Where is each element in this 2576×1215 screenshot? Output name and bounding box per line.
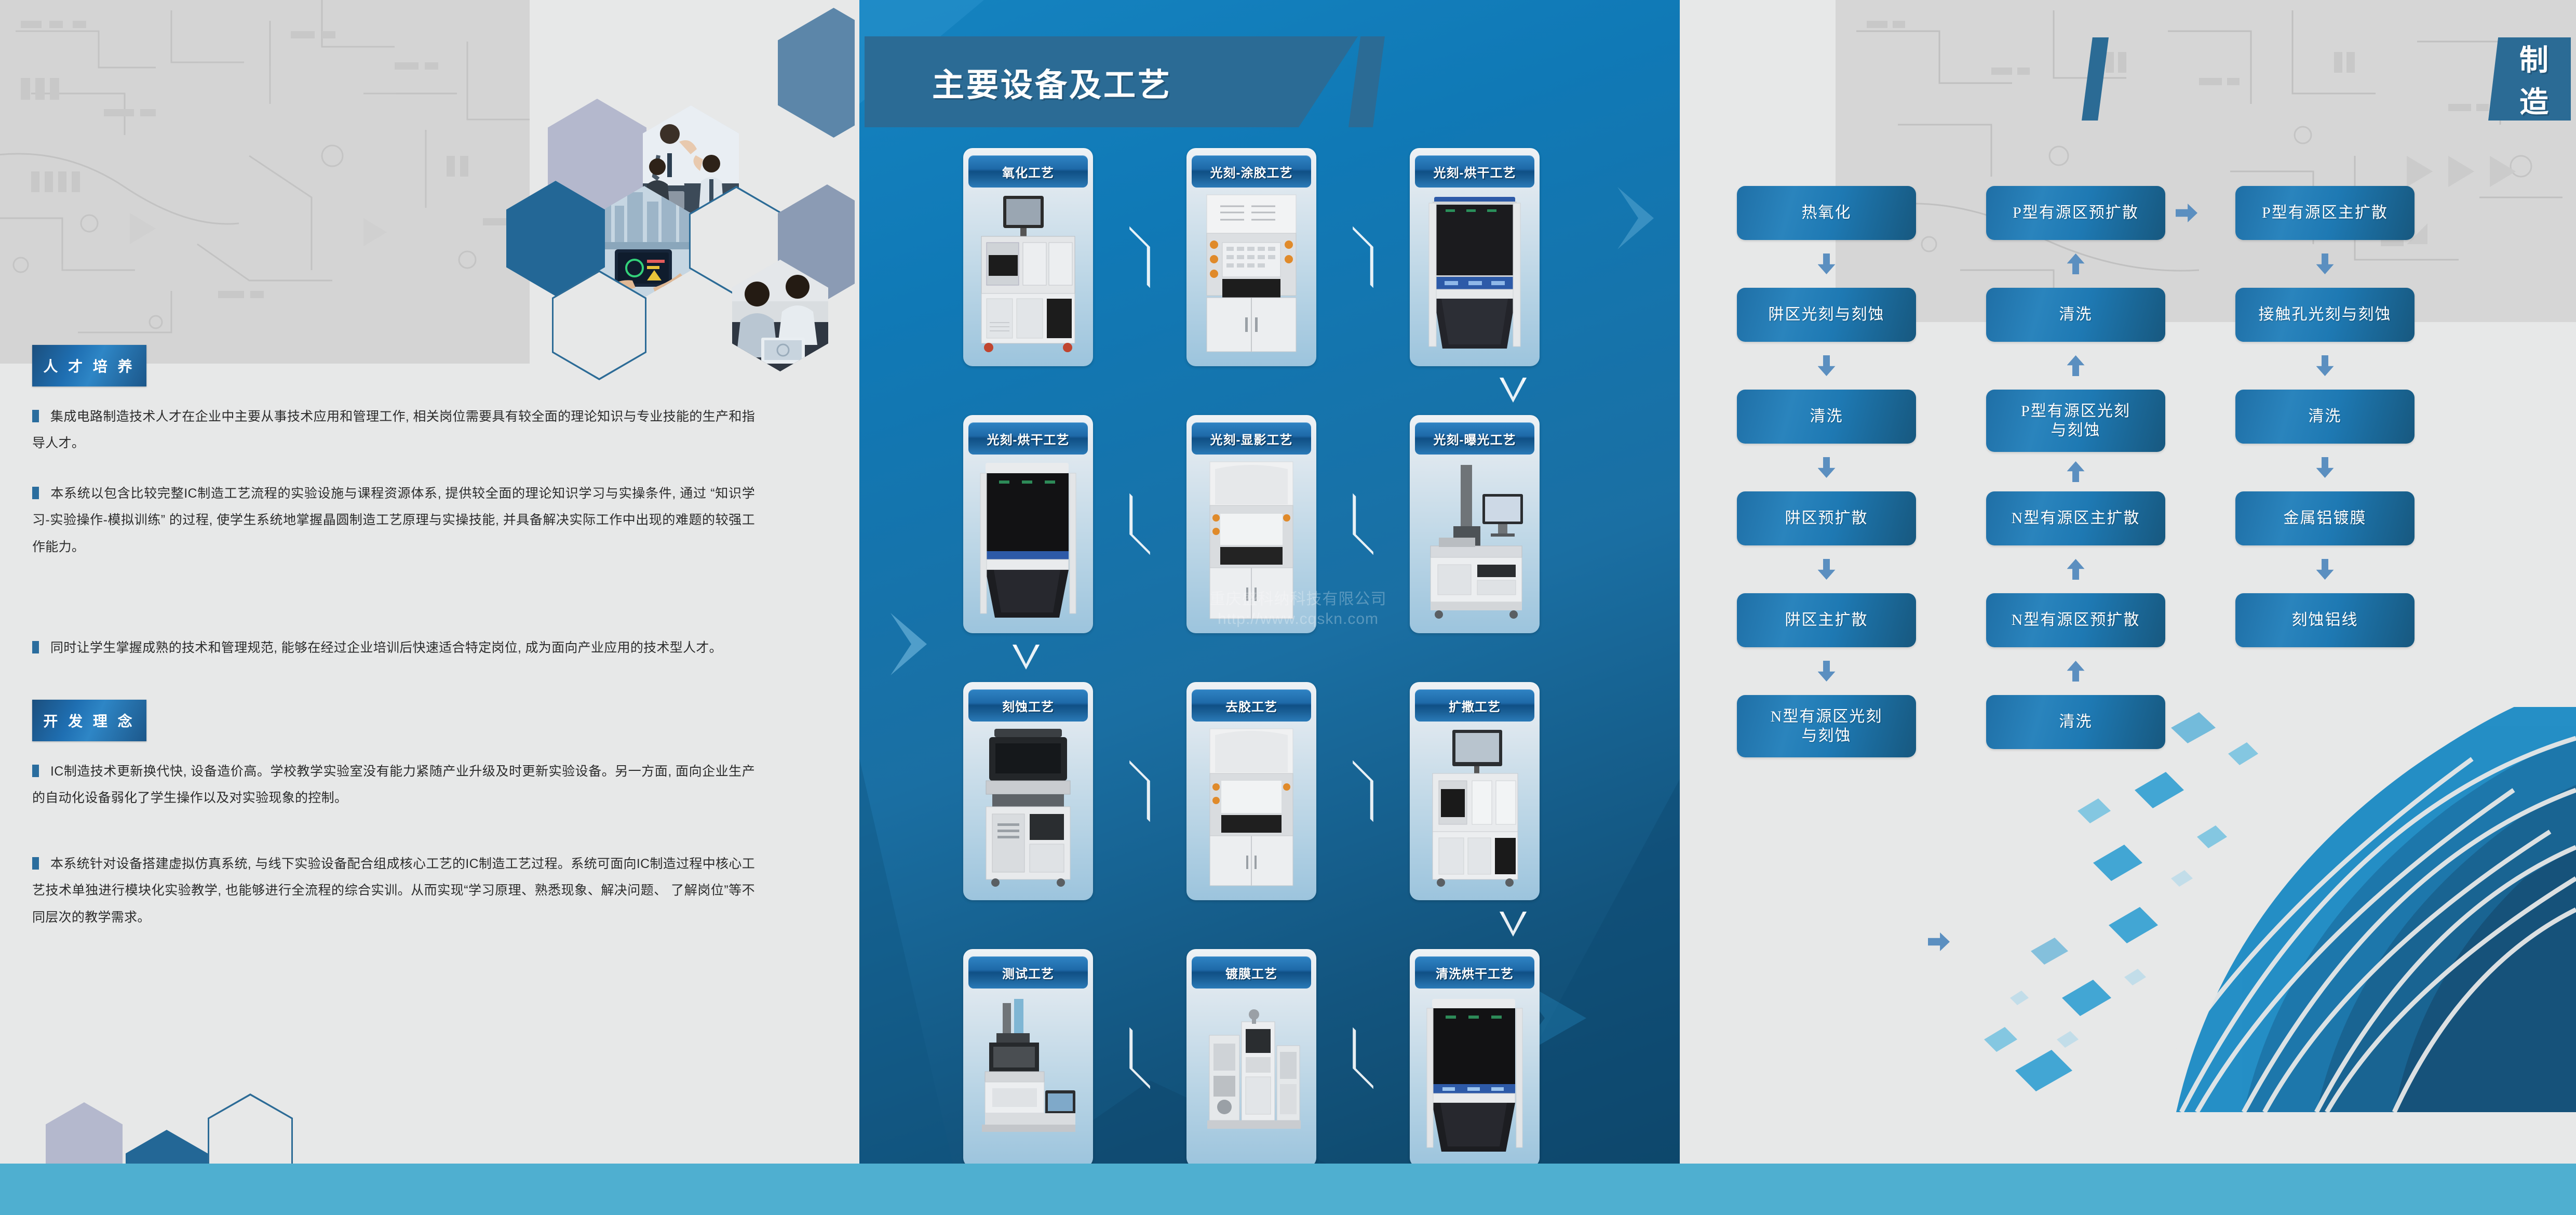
diffusion-furnace-icon bbox=[1410, 727, 1540, 900]
equipment-row-1: 氧化工艺 bbox=[963, 148, 1576, 366]
paragraph-talent-1: 集成电路制造技术人才在企业中主要从事技术应用和管理工作, 相关岗位需要具有较全面… bbox=[32, 404, 755, 457]
etcher-icon bbox=[963, 727, 1093, 900]
equipment-row-2: 光刻-烘干工艺 bbox=[963, 415, 1576, 633]
right-panel: 集成电路制造工艺流程 热氧化 阱区光刻与刻蚀 清洗 阱区预扩散 阱区主扩散 N型… bbox=[1680, 0, 2576, 1164]
sputter-coater-icon bbox=[1186, 994, 1316, 1164]
flow-box-3-3[interactable]: 清洗 bbox=[2235, 390, 2415, 444]
flow-arrow-down-2-row bbox=[963, 645, 1576, 673]
flow-arrow-left-4 bbox=[1347, 949, 1379, 1164]
flow-box-2-1[interactable]: P型有源区预扩散 bbox=[1986, 186, 2165, 240]
stripper-hood-icon bbox=[1186, 727, 1316, 900]
flow-box-1-3[interactable]: 清洗 bbox=[1737, 390, 1916, 444]
equipment-label: 刻蚀工艺 bbox=[968, 689, 1088, 722]
paragraph-text: 集成电路制造技术人才在企业中主要从事技术应用和管理工作, 相关岗位需要具有较全面… bbox=[32, 409, 755, 450]
equipment-card-diffusion[interactable]: 扩撒工艺 bbox=[1410, 682, 1540, 900]
equipment-label: 光刻-曝光工艺 bbox=[1415, 422, 1534, 455]
equipment-row-3: 刻蚀工艺 bbox=[963, 682, 1576, 900]
equipment-card-clean-dry[interactable]: 清洗烘干工艺 bbox=[1410, 949, 1540, 1164]
equipment-card-strip[interactable]: 去胶工艺 bbox=[1186, 682, 1316, 900]
hex-photo-students-laptop bbox=[732, 260, 828, 371]
equipment-label: 光刻-烘干工艺 bbox=[1415, 155, 1534, 188]
flow-arrow-down-icon bbox=[2316, 559, 2334, 580]
bullet-square-icon bbox=[32, 857, 39, 870]
flow-arrow-left-2 bbox=[1347, 415, 1379, 633]
equipment-card-etching[interactable]: 刻蚀工艺 bbox=[963, 682, 1093, 900]
flow-arrow-up-icon bbox=[2067, 559, 2085, 580]
center-panel-title: 主要设备及工艺 bbox=[865, 36, 1358, 127]
flow-box-3-5[interactable]: 刻蚀铝线 bbox=[2235, 593, 2415, 647]
flow-arrow-up-icon bbox=[2067, 461, 2085, 482]
flow-arrow-down-3 bbox=[1500, 912, 1527, 937]
flow-box-3-1[interactable]: P型有源区主扩散 bbox=[2235, 186, 2415, 240]
equipment-label: 扩撒工艺 bbox=[1415, 689, 1534, 722]
equipment-label: 镀膜工艺 bbox=[1192, 956, 1311, 989]
flow-column-3: P型有源区主扩散 接触孔光刻与刻蚀 清洗 金属铝镀膜 刻蚀铝线 bbox=[2235, 186, 2415, 647]
coater-hood-icon bbox=[1186, 193, 1316, 366]
left-panel: 人 才 培 养 集成电路制造技术人才在企业中主要从事技术应用和管理工作, 相关岗… bbox=[0, 0, 859, 1215]
flow-arrow-up-icon bbox=[2067, 661, 2085, 682]
paragraph-concept-2: 本系统针对设备搭建虚拟仿真系统, 与线下实验设备配合组成核心工艺的IC制造工艺过… bbox=[32, 851, 755, 931]
right-circuit-pattern bbox=[1836, 0, 2576, 322]
equipment-card-test[interactable]: 测试工艺 bbox=[963, 949, 1093, 1164]
badge-development-concept: 开 发 理 念 bbox=[32, 700, 146, 741]
hex-decor-solid-dark-top bbox=[778, 8, 859, 138]
flow-box-2-3[interactable]: P型有源区光刻 与刻蚀 bbox=[1986, 390, 2165, 452]
flow-arrow-down-1-row bbox=[963, 378, 1576, 406]
equipment-card-coating-film[interactable]: 镀膜工艺 bbox=[1186, 949, 1316, 1164]
equipment-card-develop[interactable]: 光刻-显影工艺 bbox=[1186, 415, 1316, 633]
flow-arrow-down-icon bbox=[1818, 559, 1836, 580]
equipment-label: 清洗烘干工艺 bbox=[1415, 956, 1534, 989]
equipment-card-exposure[interactable]: 光刻-曝光工艺 bbox=[1410, 415, 1540, 633]
equipment-card-bake-1[interactable]: 光刻-烘干工艺 bbox=[1410, 148, 1540, 366]
flow-arrow-down-icon bbox=[1818, 661, 1836, 682]
bake-oven-icon bbox=[1410, 193, 1540, 366]
flow-box-1-6[interactable]: N型有源区光刻 与刻蚀 bbox=[1737, 695, 1916, 757]
equipment-card-bake-2[interactable]: 光刻-烘干工艺 bbox=[963, 415, 1093, 633]
equipment-card-oxidation[interactable]: 氧化工艺 bbox=[963, 148, 1093, 366]
bullet-square-icon bbox=[32, 410, 39, 422]
bullet-square-icon bbox=[32, 641, 39, 653]
flow-arrow-right-col1-to-col2-icon bbox=[1928, 932, 1950, 951]
paragraph-text: 本系统以包含比较完整IC制造工艺流程的实验设施与课程资源体系, 提供较全面的理论… bbox=[32, 486, 755, 554]
center-title-text: 主要设备及工艺 bbox=[932, 59, 1172, 105]
paragraph-concept-1: IC制造技术更新换代快, 设备造价高。学校教学实验室没有能力紧随产业升级及时更新… bbox=[32, 758, 755, 812]
flow-box-2-2[interactable]: 清洗 bbox=[1986, 288, 2165, 342]
exposure-aligner-icon bbox=[1410, 460, 1540, 633]
oxidation-furnace-icon bbox=[963, 193, 1093, 366]
paragraph-text: IC制造技术更新换代快, 设备造价高。学校教学实验室没有能力紧随产业升级及时更新… bbox=[32, 764, 755, 805]
equipment-label: 光刻-显影工艺 bbox=[1192, 422, 1311, 455]
flow-arrow-down-3-row bbox=[963, 912, 1576, 940]
flow-arrow-right-3 bbox=[1124, 682, 1155, 900]
flow-box-1-4[interactable]: 阱区预扩散 bbox=[1737, 491, 1916, 545]
panel-divider bbox=[855, 0, 859, 1164]
flow-arrow-down-1 bbox=[1500, 378, 1527, 403]
badge-label: 开 发 理 念 bbox=[43, 710, 135, 731]
flow-arrow-down-icon bbox=[2316, 457, 2334, 478]
paragraph-text: 同时让学生掌握成熟的技术和管理规范, 能够在经过企业培训后快速适合特定岗位, 成… bbox=[50, 640, 722, 655]
bullet-square-icon bbox=[32, 487, 39, 499]
flow-box-2-4[interactable]: N型有源区主扩散 bbox=[1986, 491, 2165, 545]
circuit-pattern-background bbox=[0, 0, 530, 364]
equipment-label: 氧化工艺 bbox=[968, 155, 1088, 188]
flow-arrow-down-icon bbox=[1818, 253, 1836, 274]
flow-arrow-down-icon bbox=[2316, 355, 2334, 376]
paragraph-talent-3: 同时让学生掌握成熟的技术和管理规范, 能够在经过企业培训后快速适合特定岗位, 成… bbox=[32, 635, 755, 661]
paragraph-text: 本系统针对设备搭建虚拟仿真系统, 与线下实验设备配合组成核心工艺的IC制造工艺过… bbox=[32, 857, 755, 925]
paragraph-talent-2: 本系统以包含比较完整IC制造工艺流程的实验设施与课程资源体系, 提供较全面的理论… bbox=[32, 480, 755, 560]
equipment-label: 光刻-烘干工艺 bbox=[968, 422, 1088, 455]
flow-arrow-left-1 bbox=[1124, 415, 1155, 633]
flow-arrow-down-icon bbox=[1818, 355, 1836, 376]
flow-arrow-right-4 bbox=[1347, 682, 1379, 900]
bullet-square-icon bbox=[32, 765, 39, 777]
flow-column-2: P型有源区预扩散 清洗 P型有源区光刻 与刻蚀 N型有源区主扩散 N型有源区预扩… bbox=[1986, 186, 2165, 749]
flow-arrow-down-icon bbox=[1818, 457, 1836, 478]
flow-box-1-5[interactable]: 阱区主扩散 bbox=[1737, 593, 1916, 647]
equipment-card-coating[interactable]: 光刻-涂胶工艺 bbox=[1186, 148, 1316, 366]
flow-arrow-right-1 bbox=[1124, 148, 1155, 366]
equipment-row-4: 测试工艺 bbox=[963, 949, 1576, 1164]
flow-arrow-up-icon bbox=[2067, 253, 2085, 274]
flow-arrow-down-icon bbox=[2316, 253, 2334, 274]
right-panel-title: 集成电路制造工艺流程 bbox=[2488, 37, 2571, 121]
equipment-grid: 氧化工艺 bbox=[963, 148, 1576, 1164]
flow-box-1-2[interactable]: 阱区光刻与刻蚀 bbox=[1737, 288, 1916, 342]
flow-box-3-4[interactable]: 金属铝镀膜 bbox=[2235, 491, 2415, 545]
decorative-wave-graphic bbox=[1953, 707, 2576, 1112]
developer-hood-icon bbox=[1186, 460, 1316, 633]
clean-dry-icon bbox=[1410, 994, 1540, 1164]
bake-oven-dark-icon bbox=[963, 460, 1093, 633]
flow-column-1: 热氧化 阱区光刻与刻蚀 清洗 阱区预扩散 阱区主扩散 N型有源区光刻 与刻蚀 bbox=[1737, 186, 1916, 757]
equipment-label: 光刻-涂胶工艺 bbox=[1192, 155, 1311, 188]
probe-station-icon bbox=[963, 994, 1093, 1164]
poster-root: 人 才 培 养 集成电路制造技术人才在企业中主要从事技术应用和管理工作, 相关岗… bbox=[0, 0, 2576, 1215]
flow-box-3-2[interactable]: 接触孔光刻与刻蚀 bbox=[2235, 288, 2415, 342]
flow-arrow-down-2 bbox=[1013, 645, 1040, 670]
badge-talent-training: 人 才 培 养 bbox=[32, 345, 146, 386]
flow-arrow-right-2 bbox=[1347, 148, 1379, 366]
hex-decor-outline-bottom bbox=[552, 270, 646, 380]
equipment-label: 测试工艺 bbox=[968, 956, 1088, 989]
bottom-accent-bar bbox=[0, 1164, 2576, 1215]
center-panel: 主要设备及工艺 氧化工艺 bbox=[859, 0, 1680, 1164]
flow-box-2-5[interactable]: N型有源区预扩散 bbox=[1986, 593, 2165, 647]
flow-box-1-1[interactable]: 热氧化 bbox=[1737, 186, 1916, 240]
flow-arrow-left-3 bbox=[1124, 949, 1155, 1164]
flow-arrow-up-icon bbox=[2067, 355, 2085, 376]
equipment-label: 去胶工艺 bbox=[1192, 689, 1311, 722]
badge-label: 人 才 培 养 bbox=[43, 355, 135, 376]
